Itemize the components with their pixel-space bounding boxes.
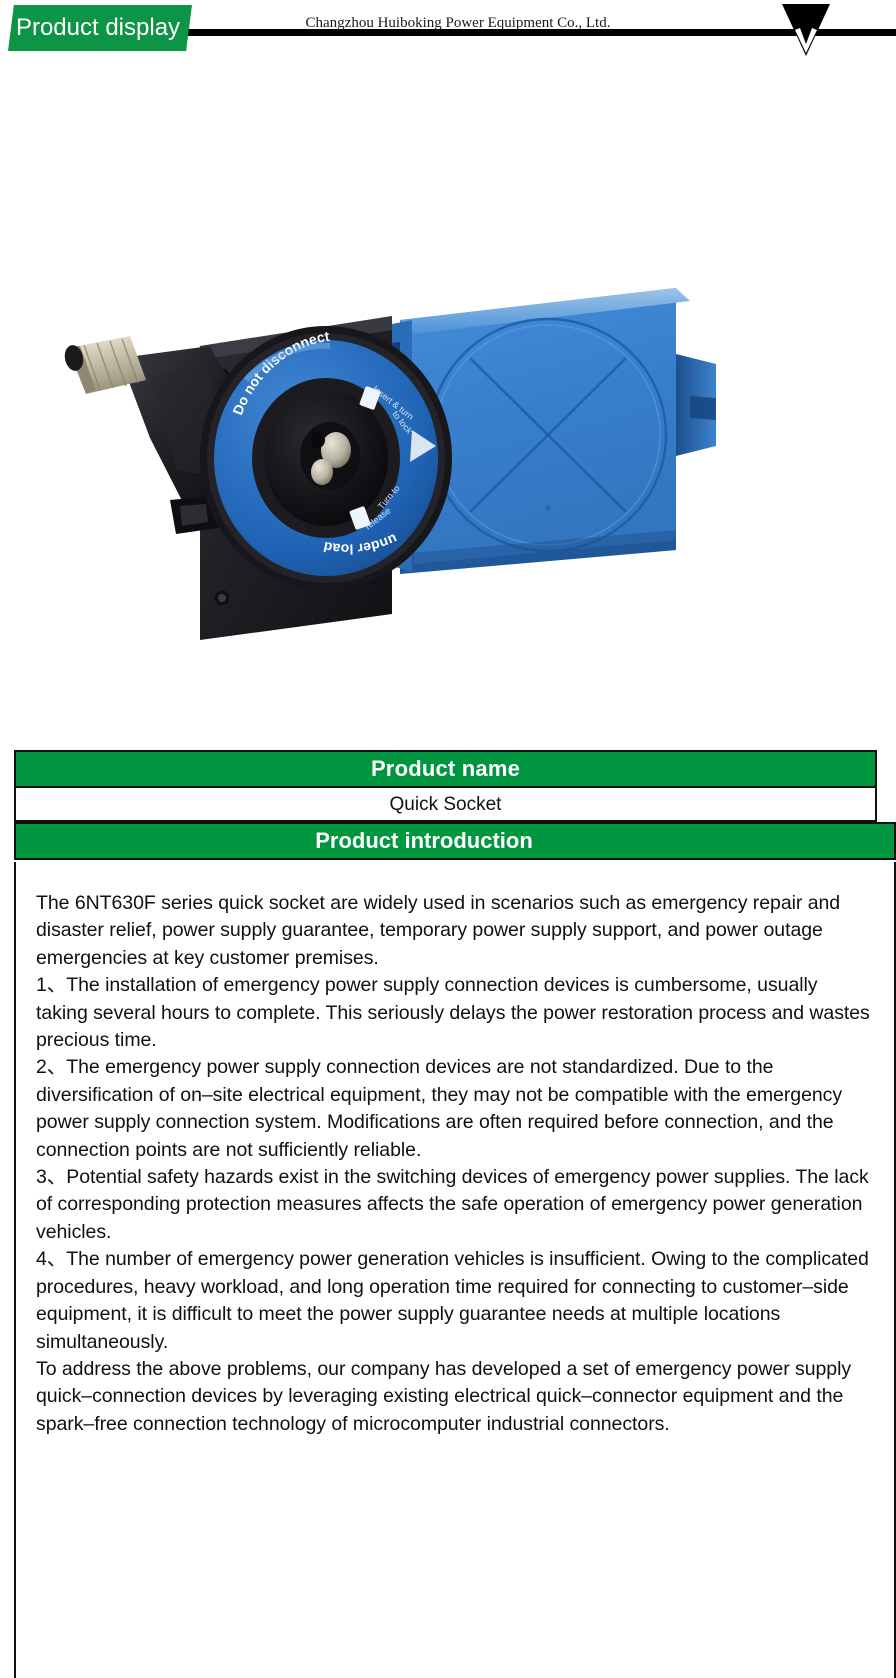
socket-face: Do not disconnect under load Insert & tu… [200, 326, 452, 590]
product-name-header-label: Product name [371, 758, 520, 780]
intro-paragraph-3: 2、The emergency power supply connection … [36, 1054, 874, 1164]
company-name: Changzhou Huiboking Power Equipment Co.,… [248, 11, 668, 35]
product-introduction-header-label: Product introduction [315, 830, 595, 852]
page-header: Product display Changzhou Huiboking Powe… [0, 0, 896, 58]
table-row-product-name-header: Product name [14, 750, 877, 786]
product-photo: Do not disconnect under load Insert & tu… [0, 58, 896, 745]
intro-paragraph-6: To address the above problems, our compa… [36, 1356, 874, 1438]
product-introduction-header: Product introduction [14, 822, 896, 860]
down-triangle-icon [770, 0, 842, 58]
spec-table: Product name Quick Socket [14, 750, 877, 822]
table-row-product-name-value: Quick Socket [14, 786, 877, 822]
intro-paragraph-1: The 6NT630F series quick socket are wide… [36, 890, 874, 972]
product-name-value: Quick Socket [390, 795, 502, 814]
intro-paragraph-2: 1、The installation of emergency power su… [36, 972, 874, 1054]
intro-paragraph-4: 3、Potential safety hazards exist in the … [36, 1164, 874, 1246]
product-introduction-body: The 6NT630F series quick socket are wide… [14, 862, 896, 1678]
product-photo-illustration: Do not disconnect under load Insert & tu… [0, 58, 896, 745]
intro-paragraph-5: 4、The number of emergency power generati… [36, 1246, 874, 1356]
product-display-banner-label: Product display [8, 5, 192, 51]
